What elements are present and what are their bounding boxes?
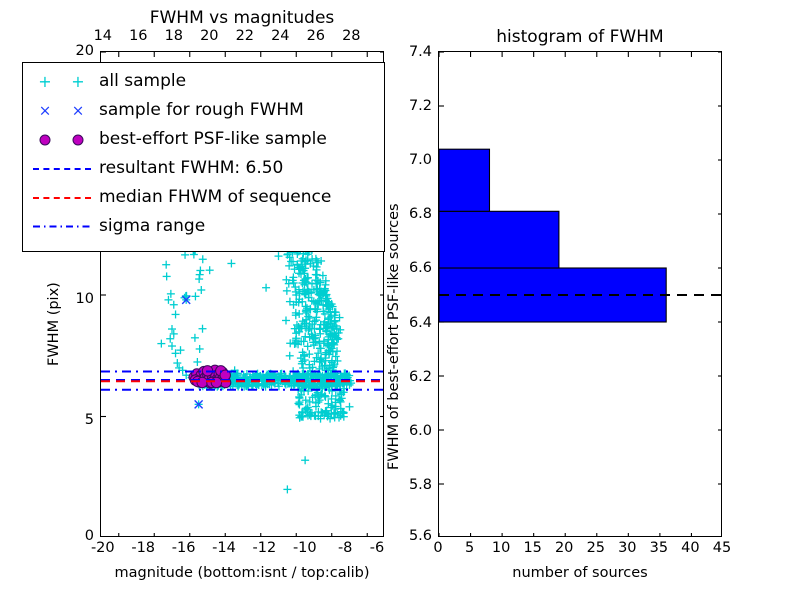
- bottom-tick-label: -8: [330, 540, 360, 556]
- bottom-tick-label: -18: [126, 540, 160, 556]
- cross-icon: ×: [72, 103, 85, 118]
- right-panel-ylabel: FWHM of best-effort PSF-like sources: [386, 203, 402, 470]
- dashdot-line-icon: [25, 212, 99, 241]
- legend-marker-median-fwhm: [25, 183, 99, 212]
- x-tick-label: 5: [457, 540, 483, 556]
- legend-marker-all-sample: + +: [25, 67, 99, 96]
- right-plot-area: [438, 51, 722, 537]
- x-tick-label: 45: [707, 540, 737, 556]
- plus-icon: +: [38, 74, 51, 90]
- y-tick-label: 7.2: [392, 98, 432, 114]
- histogram-bars: [439, 149, 666, 322]
- top-tick-label: 14: [88, 28, 118, 44]
- y-tick-label: 7.0: [392, 152, 432, 168]
- figure-canvas: FWHM vs magnitudes 14 16 18 20 22 24 26 …: [0, 0, 800, 600]
- top-tick-label: 26: [301, 28, 331, 44]
- legend-item-resultant-fwhm[interactable]: resultant FWHM: 6.50: [25, 154, 382, 183]
- histogram-svg: [439, 52, 722, 537]
- left-panel-xlabel: magnitude (bottom:isnt / top:calib): [100, 565, 384, 581]
- top-tick-label: 20: [194, 28, 224, 44]
- y-tick-label: 5: [58, 412, 94, 428]
- y-tick-label: 7.4: [392, 44, 432, 60]
- bottom-tick-label: -12: [247, 540, 281, 556]
- legend-item-all-sample[interactable]: + + all sample: [25, 67, 382, 96]
- legend-item-rough-fwhm[interactable]: × × sample for rough FWHM: [25, 96, 382, 125]
- left-panel-ylabel: FWHM (pix): [46, 282, 62, 366]
- y-tick-label: 20: [58, 43, 94, 59]
- histogram-bar: [439, 211, 559, 268]
- legend-label: all sample: [99, 73, 186, 90]
- circle-icon: [40, 134, 51, 145]
- top-tick-label: 22: [230, 28, 260, 44]
- legend-label: sample for rough FWHM: [99, 102, 304, 119]
- right-panel-xlabel: number of sources: [438, 565, 722, 581]
- x-tick-label: 15: [518, 540, 548, 556]
- left-panel-title: FWHM vs magnitudes: [100, 8, 384, 28]
- x-tick-label: 10: [486, 540, 516, 556]
- y-tick-label: 5.8: [392, 477, 432, 493]
- x-tick-label: 25: [581, 540, 611, 556]
- legend-item-psf-sample[interactable]: best-effort PSF-like sample: [25, 125, 382, 154]
- legend-label: sigma range: [99, 218, 205, 235]
- right-panel-title: histogram of FWHM: [438, 27, 722, 47]
- legend[interactable]: + + all sample × × sample for rough FWHM…: [22, 62, 385, 252]
- bottom-tick-label: -6: [362, 540, 392, 556]
- legend-item-median-fwhm[interactable]: median FHWM of sequence: [25, 183, 382, 212]
- bottom-tick-label: -16: [167, 540, 201, 556]
- cross-icon: ×: [39, 103, 52, 118]
- top-tick-label: 24: [265, 28, 295, 44]
- x-tick-label: 40: [675, 540, 705, 556]
- x-tick-label: 35: [644, 540, 674, 556]
- y-tick-label: 10: [58, 291, 94, 307]
- legend-marker-sigma-range: [25, 212, 99, 241]
- x-tick-label: 30: [612, 540, 642, 556]
- legend-item-sigma-range[interactable]: sigma range: [25, 212, 382, 241]
- dashed-line-icon: [33, 168, 91, 170]
- circle-icon: [73, 134, 84, 145]
- bottom-tick-label: -10: [288, 540, 322, 556]
- bottom-tick-label: -14: [207, 540, 241, 556]
- legend-marker-resultant-fwhm: [25, 154, 99, 183]
- legend-marker-rough-fwhm: × ×: [25, 96, 99, 125]
- dashed-line-icon: [33, 197, 91, 199]
- top-tick-label: 18: [159, 28, 189, 44]
- bottom-tick-label: -20: [86, 540, 120, 556]
- top-tick-label: 28: [336, 28, 366, 44]
- legend-marker-psf-sample: [25, 125, 99, 154]
- x-tick-label: 0: [425, 540, 451, 556]
- legend-label: resultant FWHM: 6.50: [99, 160, 283, 177]
- legend-label: median FHWM of sequence: [99, 189, 331, 206]
- top-tick-label: 16: [123, 28, 153, 44]
- legend-label: best-effort PSF-like sample: [99, 131, 327, 148]
- x-tick-label: 20: [549, 540, 579, 556]
- histogram-bar: [439, 149, 489, 211]
- plus-icon: +: [71, 74, 84, 90]
